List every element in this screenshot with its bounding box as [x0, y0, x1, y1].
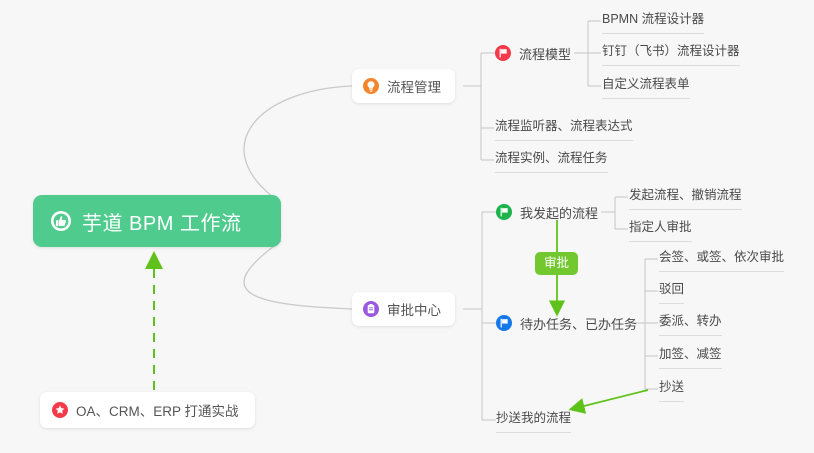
- leaf-cc-to-me-process[interactable]: 抄送我的流程: [496, 410, 571, 433]
- leaf-countersign-or-sequential[interactable]: 会签、或签、依次审批: [659, 249, 784, 272]
- root-node[interactable]: 芋道 BPM 工作流: [33, 195, 281, 247]
- branch-approval-center[interactable]: 审批中心: [352, 292, 455, 326]
- leaf-reject[interactable]: 驳回: [659, 281, 684, 304]
- thumbs-up-icon: [50, 210, 72, 232]
- lightbulb-icon: [363, 78, 379, 94]
- leaf-designated-approver[interactable]: 指定人审批: [629, 219, 692, 242]
- mindmap-canvas: 芋道 BPM 工作流 OA、CRM、ERP 打通实战 流程管理: [0, 0, 814, 453]
- flag-icon: [495, 45, 511, 61]
- node-my-initiated-process[interactable]: 我发起的流程: [496, 201, 598, 223]
- branch-label-approval-center: 审批中心: [387, 299, 441, 319]
- clipboard-icon: [363, 301, 379, 317]
- flag-icon: [496, 204, 512, 220]
- star-icon: [52, 402, 68, 418]
- flow-tag-approval: 审批: [535, 252, 578, 275]
- leaf-dingtalk-feishu-designer[interactable]: 钉钉（飞书）流程设计器: [602, 43, 740, 66]
- leaf-add-remove-sign[interactable]: 加签、减签: [659, 346, 722, 369]
- leaf-process-instance-task[interactable]: 流程实例、流程任务: [495, 150, 608, 173]
- leaf-process-listener-expression[interactable]: 流程监听器、流程表达式: [495, 118, 633, 141]
- note-card-integration[interactable]: OA、CRM、ERP 打通实战: [40, 392, 255, 428]
- root-label: 芋道 BPM 工作流: [82, 207, 241, 236]
- node-label-todo-done-tasks: 待办任务、已办任务: [520, 314, 637, 333]
- leaf-cc[interactable]: 抄送: [659, 379, 684, 402]
- branch-process-management[interactable]: 流程管理: [352, 69, 455, 103]
- leaf-custom-process-form[interactable]: 自定义流程表单: [602, 76, 690, 99]
- leaf-start-cancel-process[interactable]: 发起流程、撤销流程: [629, 187, 742, 210]
- leaf-bpmn-designer[interactable]: BPMN 流程设计器: [602, 11, 704, 34]
- leaf-delegate-transfer[interactable]: 委派、转办: [659, 313, 722, 336]
- flag-icon: [496, 315, 512, 331]
- branch-label-process-management: 流程管理: [387, 76, 441, 96]
- node-todo-done-tasks[interactable]: 待办任务、已办任务: [496, 312, 637, 334]
- node-process-model[interactable]: 流程模型: [495, 42, 571, 64]
- node-label-my-initiated-process: 我发起的流程: [520, 203, 598, 222]
- node-label-process-model: 流程模型: [519, 44, 571, 63]
- note-card-label: OA、CRM、ERP 打通实战: [76, 400, 239, 420]
